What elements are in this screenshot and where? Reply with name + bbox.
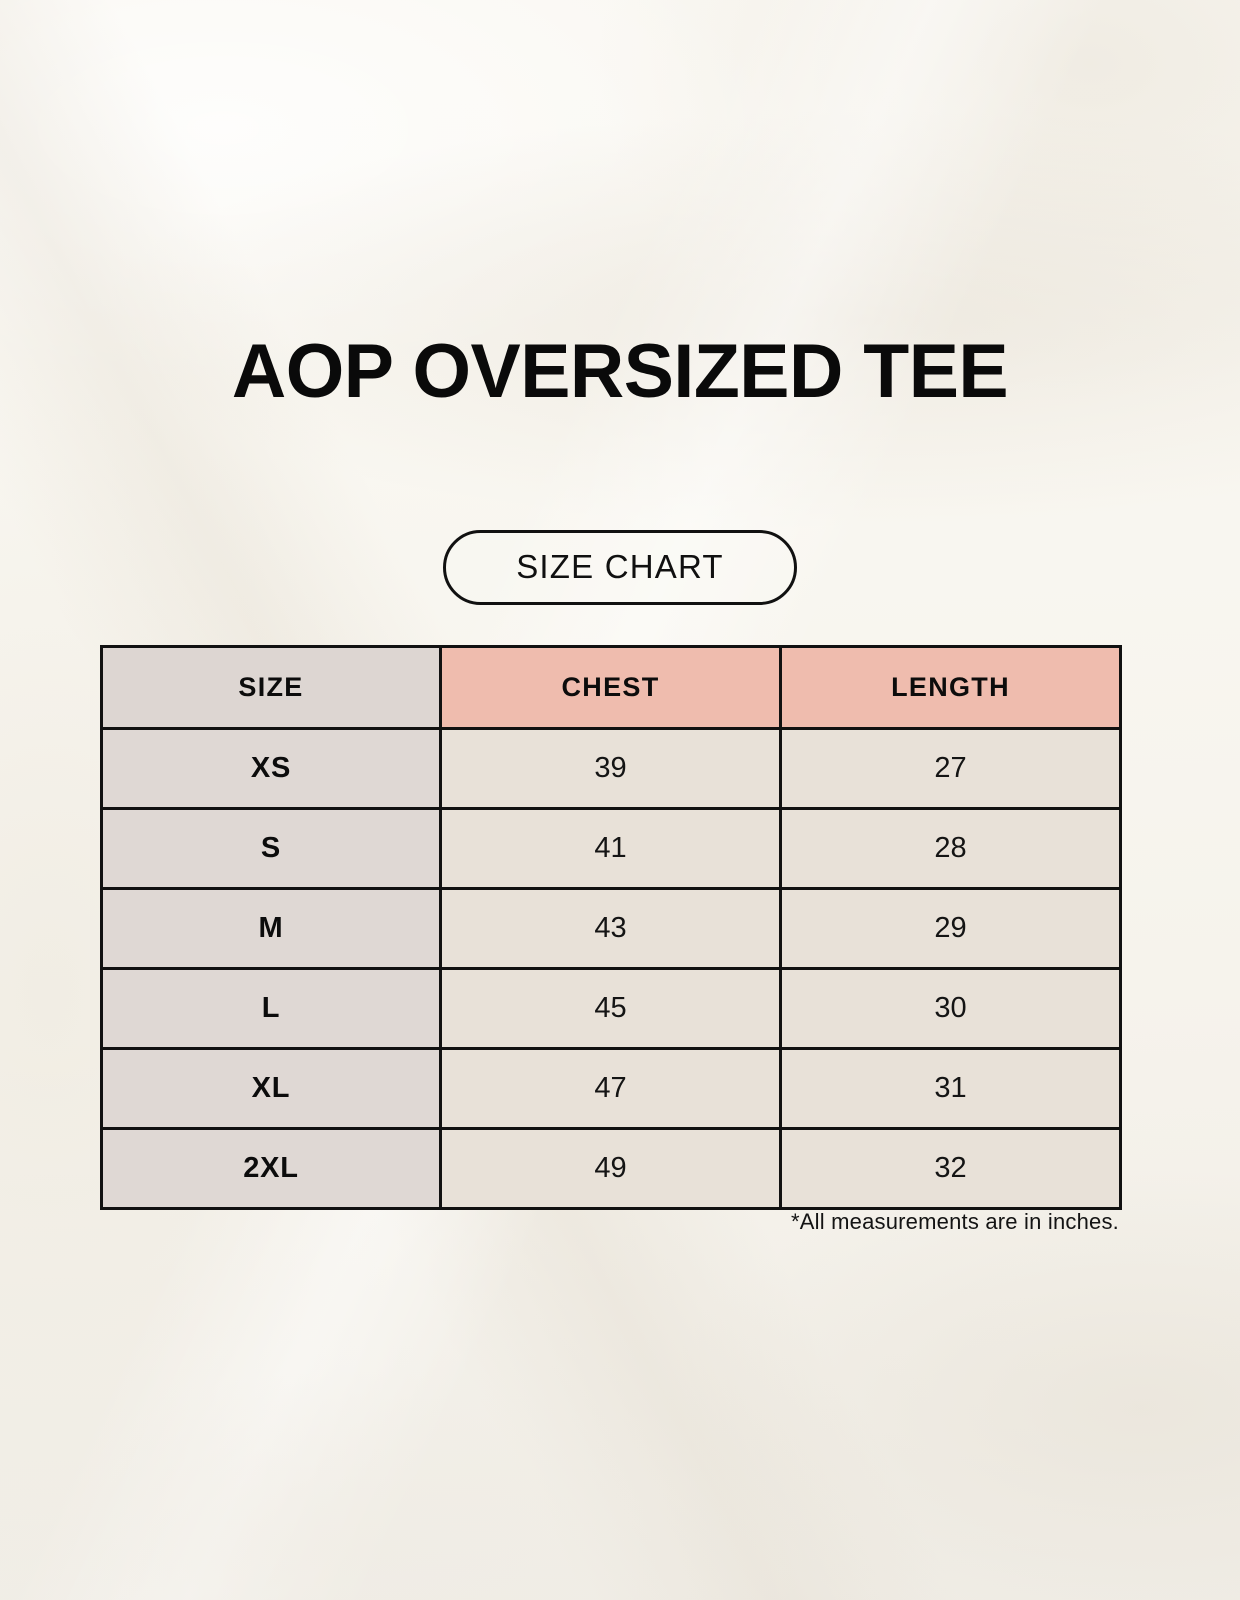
cell-size: 2XL (102, 1129, 441, 1209)
table-row: XS 39 27 (102, 729, 1121, 809)
cell-size: XL (102, 1049, 441, 1129)
cell-length: 30 (781, 969, 1121, 1049)
page-title: AOP OVERSIZED TEE (6, 336, 1234, 408)
size-table-container: SIZE CHEST LENGTH XS 39 27 S 41 28 M (100, 645, 1119, 1210)
table-row: 2XL 49 32 (102, 1129, 1121, 1209)
table-row: L 45 30 (102, 969, 1121, 1049)
size-table: SIZE CHEST LENGTH XS 39 27 S 41 28 M (100, 645, 1122, 1210)
measurements-footnote: *All measurements are in inches. (100, 1209, 1119, 1235)
cell-size: M (102, 889, 441, 969)
size-chart-page: AOP OVERSIZED TEE SIZE CHART SIZE CHEST … (0, 0, 1240, 1600)
cell-size: L (102, 969, 441, 1049)
table-body: XS 39 27 S 41 28 M 43 29 L 45 30 (102, 729, 1121, 1209)
cell-length: 31 (781, 1049, 1121, 1129)
cell-length: 28 (781, 809, 1121, 889)
cell-chest: 41 (441, 809, 781, 889)
cell-chest: 47 (441, 1049, 781, 1129)
table-row: XL 47 31 (102, 1049, 1121, 1129)
cell-length: 29 (781, 889, 1121, 969)
size-chart-badge: SIZE CHART (443, 530, 797, 605)
table-header: SIZE CHEST LENGTH (102, 647, 1121, 729)
cell-chest: 45 (441, 969, 781, 1049)
cell-chest: 49 (441, 1129, 781, 1209)
table-row: M 43 29 (102, 889, 1121, 969)
table-row: S 41 28 (102, 809, 1121, 889)
column-header-size: SIZE (102, 647, 441, 729)
cell-size: S (102, 809, 441, 889)
cell-size: XS (102, 729, 441, 809)
table-header-row: SIZE CHEST LENGTH (102, 647, 1121, 729)
badge-container: SIZE CHART (0, 530, 1240, 605)
column-header-length: LENGTH (781, 647, 1121, 729)
cell-chest: 43 (441, 889, 781, 969)
cell-length: 32 (781, 1129, 1121, 1209)
cell-length: 27 (781, 729, 1121, 809)
column-header-chest: CHEST (441, 647, 781, 729)
cell-chest: 39 (441, 729, 781, 809)
